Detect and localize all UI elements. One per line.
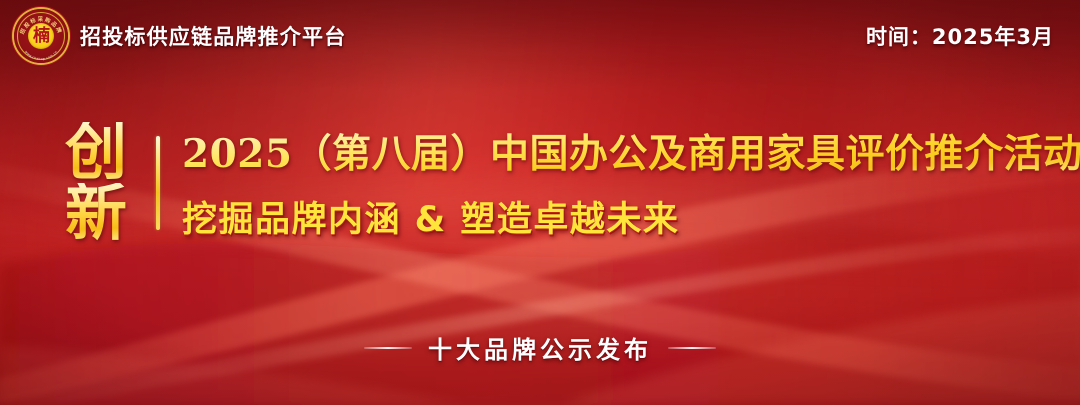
platform-title: 招投标供应链品牌推介平台 [80, 21, 346, 51]
keyword-char-1: 创 [65, 122, 127, 183]
svg-text:www.chaitop.com.cn: www.chaitop.com.cn [24, 50, 58, 61]
gold-vertical-divider [156, 136, 160, 230]
banner-header: 招投标采购品牌 www.chaitop.com.cn 楠 招投标供应链品牌推介平… [0, 0, 1080, 72]
tagline-dash-right [668, 347, 716, 349]
event-title: 2025（第八届）中国办公及商用家具评价推介活动 [182, 123, 1080, 179]
keyword-innovation: 创 新 [44, 122, 148, 244]
tagline-dash-left [364, 347, 412, 349]
tagline-text: 十大品牌公示发布 [428, 330, 652, 365]
promo-banner: 招投标采购品牌 www.chaitop.com.cn 楠 招投标供应链品牌推介平… [0, 0, 1080, 405]
event-time-label: 时间：2025年3月 [866, 21, 1054, 51]
keyword-char-2: 新 [65, 183, 127, 244]
banner-main: 创 新 2025（第八届）中国办公及商用家具评价推介活动 挖掘品牌内涵 & 塑造… [0, 122, 1080, 244]
title-group: 2025（第八届）中国办公及商用家具评价推介活动 挖掘品牌内涵 & 塑造卓越未来 [182, 122, 1080, 244]
brand-emblem-icon: 招投标采购品牌 www.chaitop.com.cn 楠 [14, 9, 68, 63]
event-subtitle: 挖掘品牌内涵 & 塑造卓越未来 [182, 191, 1080, 242]
tagline-row: 十大品牌公示发布 [0, 330, 1080, 365]
emblem-center-glyph: 楠 [28, 23, 54, 49]
